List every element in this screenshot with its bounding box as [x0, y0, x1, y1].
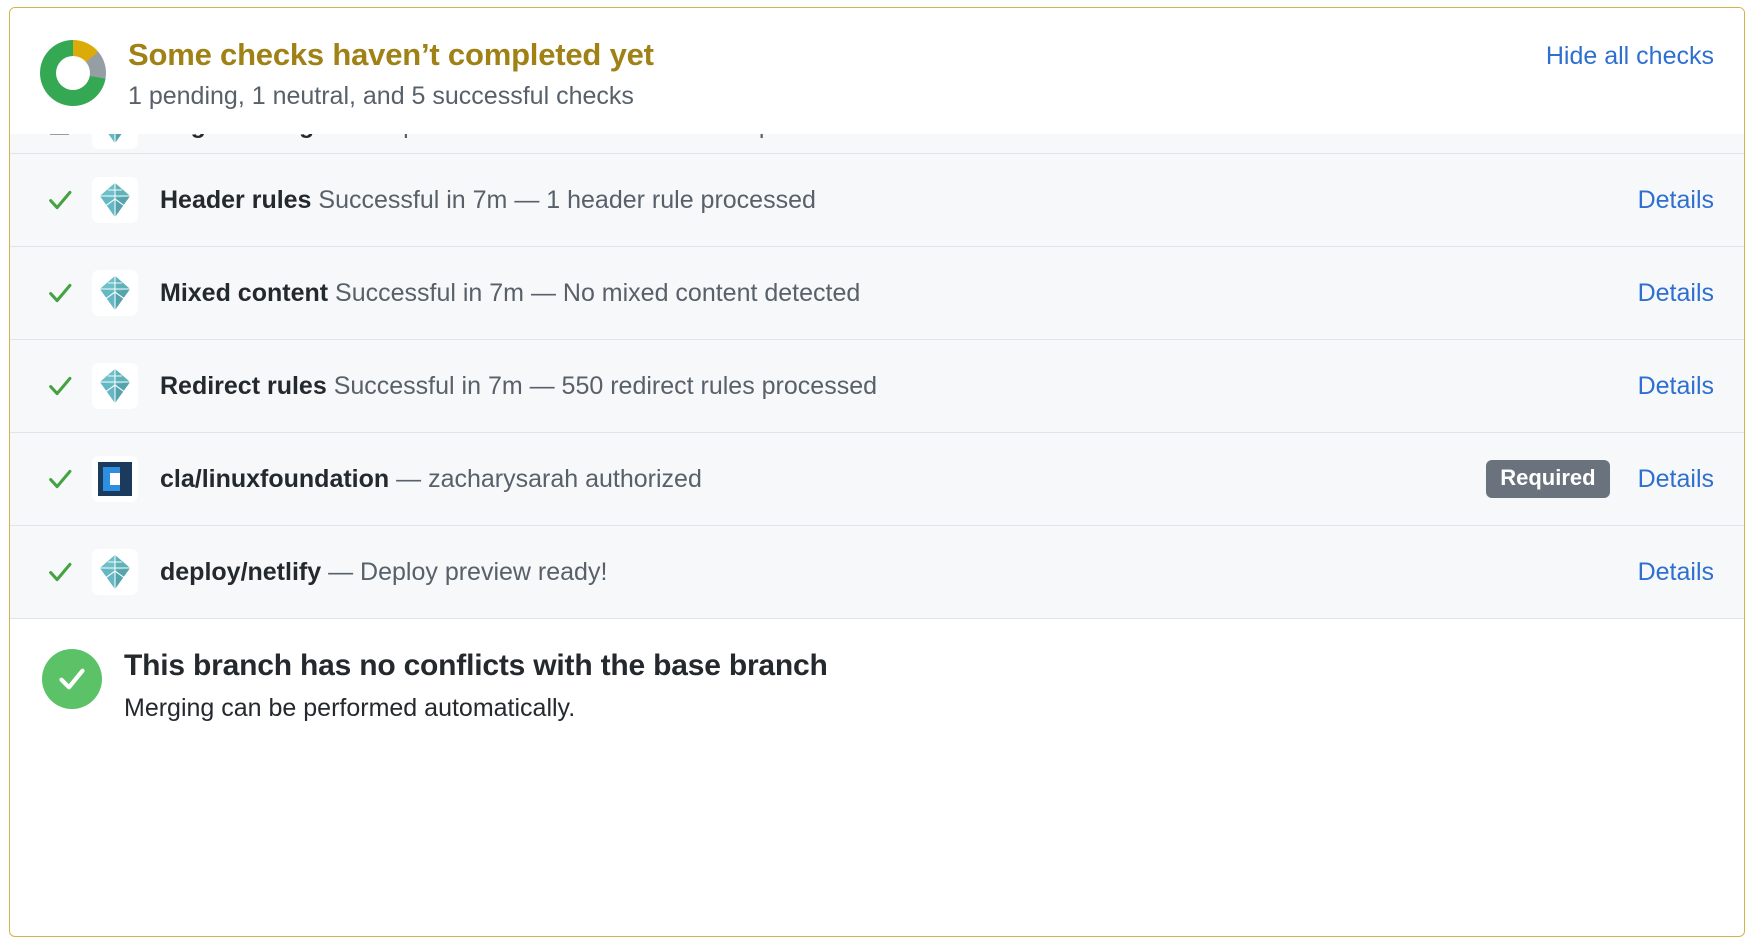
- check-text: Mixed content Successful in 7m — No mixe…: [160, 279, 1638, 308]
- check-description: Successful in 7m — No mixed content dete…: [335, 279, 860, 307]
- table-row[interactable]: deploy/netlify — Deploy preview ready! D…: [10, 526, 1744, 619]
- check-status: [46, 154, 92, 246]
- check-text: cla/linuxfoundation — zacharysarah autho…: [160, 465, 1486, 494]
- check-status: [46, 340, 92, 432]
- check-icon: [46, 186, 74, 214]
- status-badge: Required: [1486, 460, 1609, 498]
- checks-list: Pages changed Completed in 7m — 2094 new…: [10, 134, 1744, 619]
- check-status: [46, 526, 92, 618]
- check-icon: [46, 279, 74, 307]
- netlify-logo-icon: [92, 177, 138, 223]
- check-icon: [46, 465, 74, 493]
- merge-status-box: Some checks haven’t completed yet 1 pend…: [9, 7, 1745, 937]
- check-circle-icon: [42, 649, 102, 709]
- table-row[interactable]: cla/linuxfoundation — zacharysarah autho…: [10, 433, 1744, 526]
- table-row[interactable]: Header rules Successful in 7m — 1 header…: [10, 154, 1744, 247]
- details-link[interactable]: Details: [1638, 186, 1714, 215]
- check-icon: [46, 558, 74, 586]
- netlify-logo-icon: [92, 270, 138, 316]
- check-description: Successful in 7m — 550 redirect rules pr…: [334, 372, 877, 400]
- merge-status-title: This branch has no conflicts with the ba…: [124, 647, 1714, 685]
- check-text: Redirect rules Successful in 7m — 550 re…: [160, 372, 1638, 401]
- details-link[interactable]: Details: [1638, 465, 1714, 494]
- check-text: deploy/netlify — Deploy preview ready!: [160, 558, 1638, 587]
- check-separator: —: [321, 558, 360, 586]
- checks-header-title: Some checks haven’t completed yet: [128, 36, 1546, 73]
- check-description: Successful in 7m — 1 header rule process…: [318, 186, 815, 214]
- branch-conflict-status: This branch has no conflicts with the ba…: [10, 619, 1744, 754]
- check-name: cla/linuxfoundation: [160, 465, 389, 493]
- linuxfoundation-cla-icon: [92, 456, 138, 502]
- check-name: deploy/netlify: [160, 558, 321, 586]
- check-description: zacharysarah authorized: [428, 465, 702, 493]
- checks-header: Some checks haven’t completed yet 1 pend…: [10, 8, 1744, 134]
- checks-status-donut-icon: [40, 40, 106, 106]
- merge-status-subtitle: Merging can be performed automatically.: [124, 693, 1714, 724]
- details-link[interactable]: Details: [1638, 558, 1714, 587]
- check-status: [46, 433, 92, 525]
- check-text: Header rules Successful in 7m — 1 header…: [160, 186, 1638, 215]
- details-link[interactable]: Details: [1638, 279, 1714, 308]
- hide-all-checks-link[interactable]: Hide all checks: [1546, 34, 1714, 71]
- check-name: Header rules: [160, 186, 311, 214]
- check-separator: —: [389, 465, 428, 493]
- check-description: Deploy preview ready!: [360, 558, 607, 586]
- check-name: Mixed content: [160, 279, 328, 307]
- netlify-logo-icon: [92, 549, 138, 595]
- netlify-logo-icon: [92, 363, 138, 409]
- table-row[interactable]: Redirect rules Successful in 7m — 550 re…: [10, 340, 1744, 433]
- checks-header-subtitle: 1 pending, 1 neutral, and 5 successful c…: [128, 81, 1546, 112]
- details-link[interactable]: Details: [1638, 372, 1714, 401]
- check-name: Redirect rules: [160, 372, 327, 400]
- check-icon: [46, 372, 74, 400]
- table-row[interactable]: Mixed content Successful in 7m — No mixe…: [10, 247, 1744, 340]
- check-status: [46, 247, 92, 339]
